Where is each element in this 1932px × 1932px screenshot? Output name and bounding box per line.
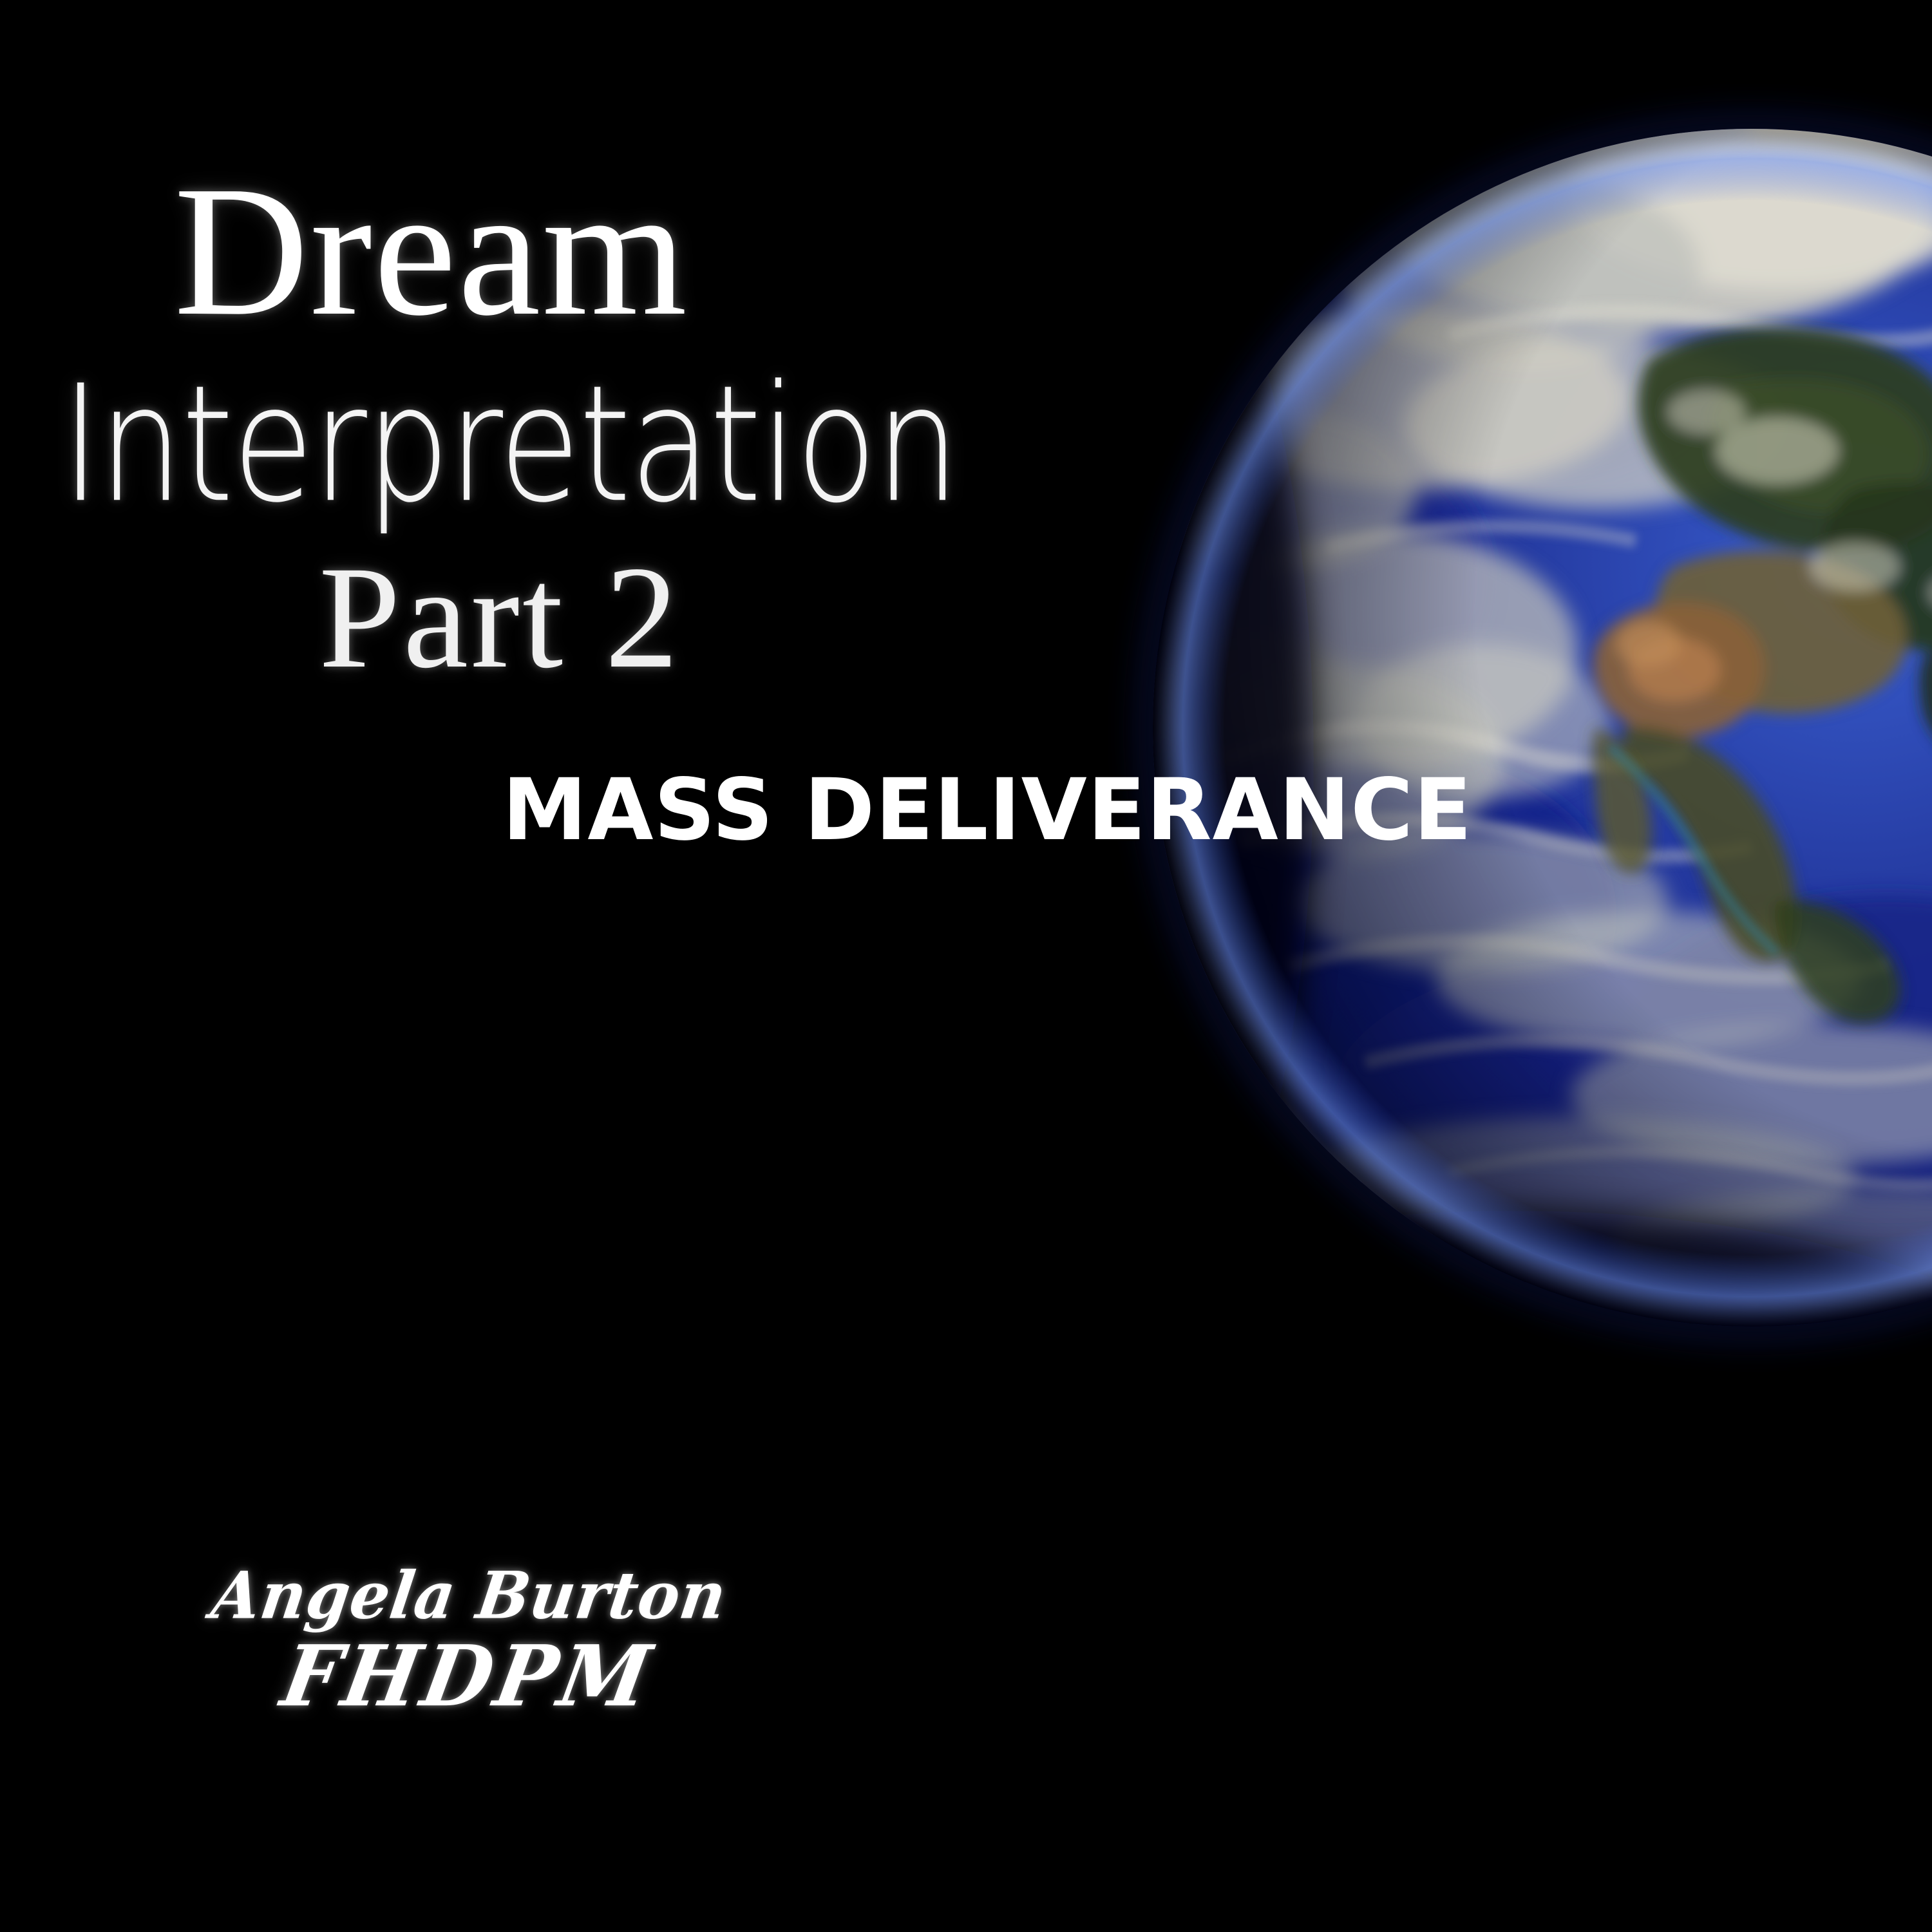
signature-name: Angela Burton <box>208 1564 730 1629</box>
title-line-part: Part 2 <box>319 544 681 691</box>
poster-canvas: Dream Interpretation Part 2 MASS DELIVER… <box>0 0 1932 1932</box>
signature-block: Angela Burton FHDPM <box>213 1565 726 1717</box>
title-line-interpretation: Interpretation <box>61 364 958 525</box>
subtitle-text: MASS DELIVERANCE <box>502 768 1472 853</box>
subtitle-mass-deliverance: MASS DELIVERANCE <box>502 768 1472 853</box>
title-line-dream: Dream <box>174 158 688 345</box>
signature-organization: FHDPM <box>276 1635 734 1719</box>
